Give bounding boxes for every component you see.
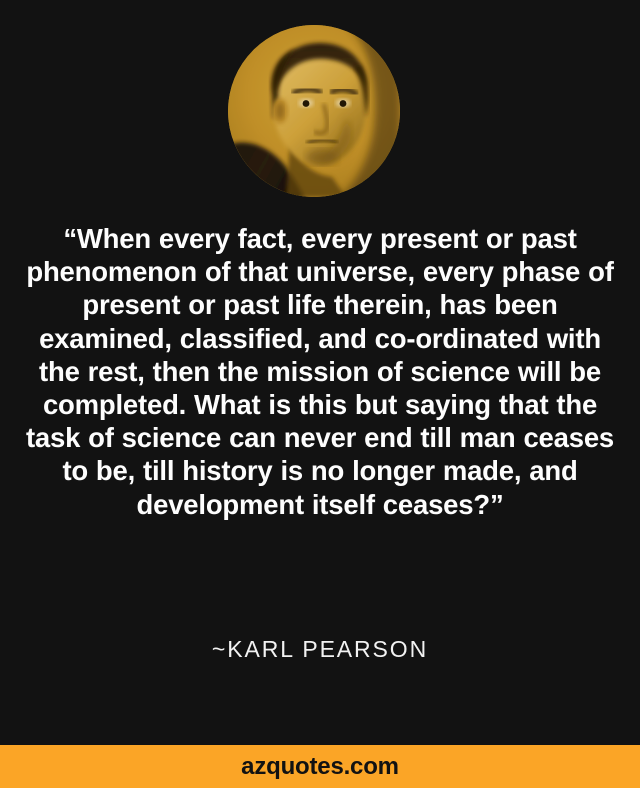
quote-card: “When every fact, every present or past … <box>0 0 640 788</box>
author-attribution: ~KARL PEARSON <box>0 636 640 663</box>
quote-block: “When every fact, every present or past … <box>20 222 620 521</box>
portrait-container <box>228 25 400 197</box>
quote-text: “When every fact, every present or past … <box>20 222 620 521</box>
footer-bar: azquotes.com <box>0 745 640 788</box>
karl-pearson-portrait <box>228 25 400 197</box>
site-watermark[interactable]: azquotes.com <box>241 753 399 781</box>
author-name: ~KARL PEARSON <box>0 636 640 663</box>
